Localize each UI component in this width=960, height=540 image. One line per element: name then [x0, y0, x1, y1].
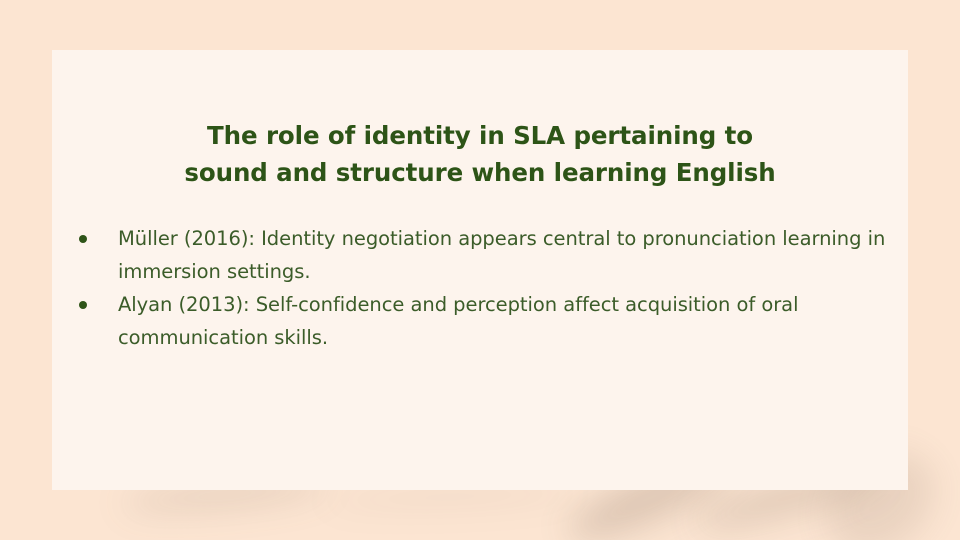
- bullet-dot-icon: [79, 301, 87, 309]
- slide-stage: The role of identity in SLA pertaining t…: [0, 0, 960, 540]
- list-item: Müller (2016): Identity negotiation appe…: [52, 222, 908, 288]
- list-item-text: Müller (2016): Identity negotiation appe…: [118, 222, 898, 288]
- slide-card: The role of identity in SLA pertaining t…: [52, 50, 908, 490]
- bullet-dot-icon: [79, 235, 87, 243]
- bullet-list: Müller (2016): Identity negotiation appe…: [52, 222, 908, 354]
- slide-title-line-2: sound and structure when learning Englis…: [52, 154, 908, 191]
- list-item: Alyan (2013): Self-confidence and percep…: [52, 288, 908, 354]
- list-item-text: Alyan (2013): Self-confidence and percep…: [118, 288, 898, 354]
- slide-title: The role of identity in SLA pertaining t…: [52, 66, 908, 191]
- slide-title-line-1: The role of identity in SLA pertaining t…: [52, 117, 908, 154]
